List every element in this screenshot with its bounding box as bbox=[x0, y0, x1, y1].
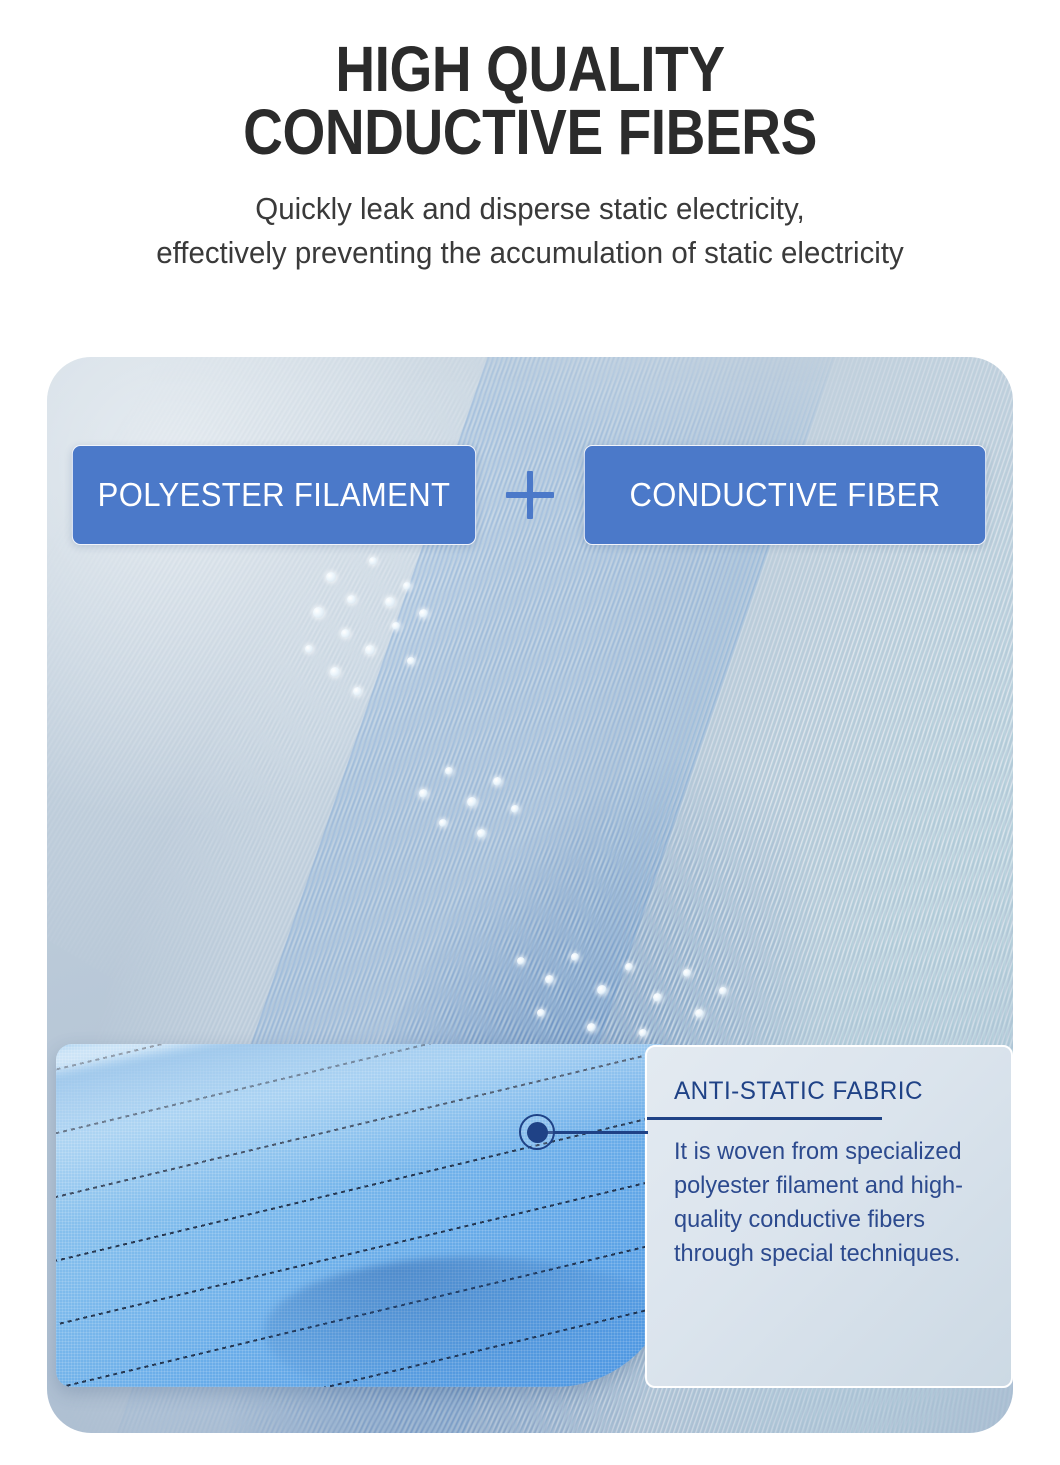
callout-body-text: It is woven from specialized polyester f… bbox=[674, 1135, 979, 1271]
subtitle-line-1: Quickly leak and disperse static electri… bbox=[27, 187, 1034, 231]
page-title: HIGH QUALITY CONDUCTIVE FIBERS bbox=[74, 0, 986, 165]
title-line-2: CONDUCTIVE FIBERS bbox=[74, 101, 986, 164]
page-subtitle: Quickly leak and disperse static electri… bbox=[27, 187, 1034, 275]
callout-title: ANTI-STATIC FABRIC bbox=[674, 1077, 976, 1106]
anti-static-fabric-callout: ANTI-STATIC FABRIC It is woven from spec… bbox=[645, 1045, 1013, 1388]
badge-conductive-fiber[interactable]: CONDUCTIVE FIBER bbox=[584, 445, 986, 545]
badge-polyester-filament[interactable]: POLYESTER FILAMENT bbox=[72, 445, 476, 545]
title-line-1: HIGH QUALITY bbox=[335, 33, 724, 105]
subtitle-line-2: effectively preventing the accumulation … bbox=[27, 231, 1034, 275]
fabric-swatch-image bbox=[56, 1044, 674, 1387]
hero-image-card: POLYESTER FILAMENT CONDUCTIVE FIBER ANTI… bbox=[47, 357, 1013, 1433]
plus-icon bbox=[489, 445, 571, 545]
callout-underline bbox=[647, 1117, 882, 1120]
infographic-page: HIGH QUALITY CONDUCTIVE FIBERS Quickly l… bbox=[0, 0, 1060, 1465]
material-badge-row: POLYESTER FILAMENT CONDUCTIVE FIBER bbox=[47, 445, 1013, 545]
header: HIGH QUALITY CONDUCTIVE FIBERS Quickly l… bbox=[0, 0, 1060, 275]
callout-marker-dot bbox=[527, 1122, 548, 1143]
